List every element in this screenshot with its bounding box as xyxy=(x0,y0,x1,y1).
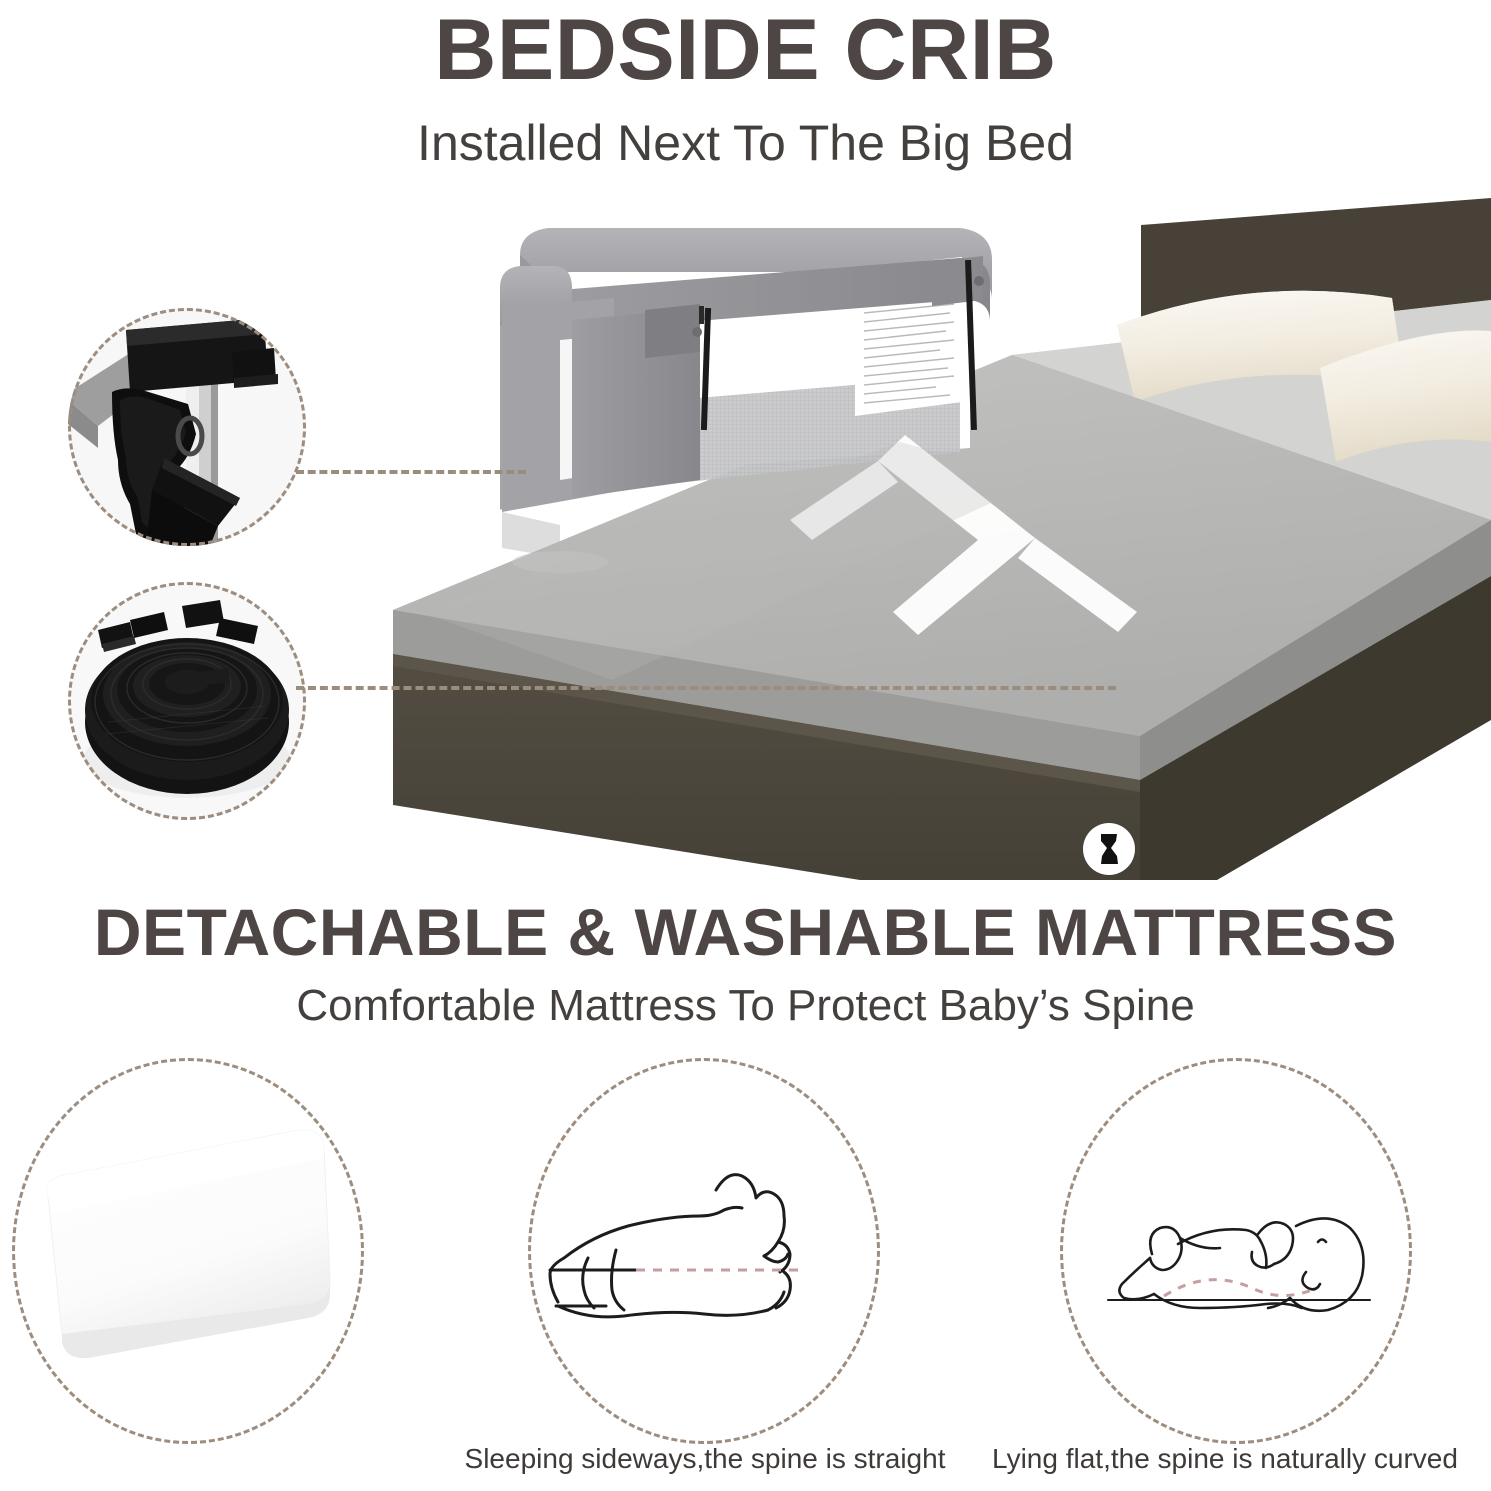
baby-lying-flat-line-drawing xyxy=(1060,1058,1412,1444)
baby-sideways-line-drawing xyxy=(528,1058,880,1444)
page-title-detachable-mattress: DETACHABLE & WASHABLE MATTRESS xyxy=(0,892,1491,972)
figure-caption-sideways: Sleeping sideways,the spine is straight xyxy=(440,1442,970,1476)
callout-clip-buckle xyxy=(68,308,306,546)
connector-line-clip xyxy=(296,470,526,474)
infographic-page: BEDSIDE CRIB Installed Next To The Big B… xyxy=(0,0,1491,1491)
callout-strap-coil xyxy=(68,582,306,820)
spine-reference-curve xyxy=(1164,1280,1312,1296)
page-subtitle-detachable-mattress: Comfortable Mattress To Protect Baby’s S… xyxy=(0,978,1491,1034)
strap-clip-photo xyxy=(68,308,306,546)
page-title-bedside-crib: BEDSIDE CRIB xyxy=(0,0,1491,102)
page-subtitle-bedside-crib: Installed Next To The Big Bed xyxy=(0,112,1491,174)
webbing-strap-coil-photo xyxy=(68,582,306,820)
crib-leg-left xyxy=(502,512,560,558)
figure-caption-flat: Lying flat,the spine is naturally curved xyxy=(960,1442,1490,1476)
connector-line-strap xyxy=(296,686,1116,690)
strap-buckle-badge xyxy=(1083,823,1135,875)
buckle-icon xyxy=(1096,833,1122,865)
white-mattress-photo xyxy=(12,1058,364,1444)
